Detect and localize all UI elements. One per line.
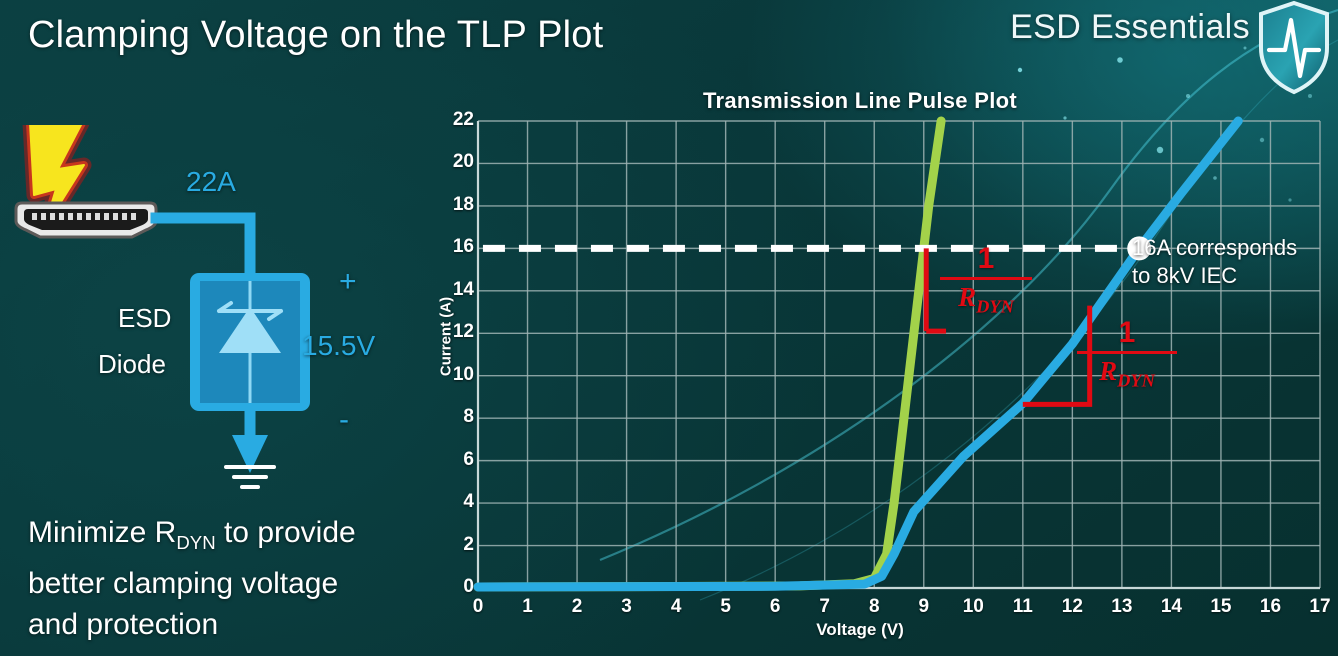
grid-lines [478,121,1320,588]
slope-2-numerator: 1 [1075,320,1179,346]
fraction-bar-icon [1077,351,1177,354]
polarity-plus-label: + [339,265,357,299]
circuit-wiring [156,218,250,275]
slope-1-denominator: RDYN [938,283,1034,320]
slide-canvas: Clamping Voltage on the TLP Plot ESD Ess… [0,0,1338,656]
current-value-label: 22A [186,166,236,198]
esd-diode-label-line1: ESD [118,303,171,334]
esd-diode-label-line2: Diode [98,349,166,380]
iec-callout-line1: 16A corresponds [1132,234,1297,262]
iec-callout: 16A corresponds to 8kV IEC [1132,234,1297,290]
polarity-minus-label: - [339,403,349,437]
fraction-bar-icon [940,277,1032,280]
summary-line3: and protection [28,608,218,641]
hdmi-connector-icon [16,203,156,237]
summary-note: Minimize RDYN to provide better clamping… [28,512,448,645]
brand-name: ESD Essentials [1010,8,1250,47]
voltage-value-label: 15.5V [302,330,375,362]
slope-1-numerator: 1 [938,246,1034,272]
slope-annotation-1: 1 RDYN [938,246,1034,320]
slope-annotation-2: 1 RDYN [1075,320,1179,394]
summary-line2: better clamping voltage [28,567,338,600]
plot-area [420,88,1338,656]
tlp-chart: Transmission Line Pulse Plot Current (A)… [420,88,1338,656]
tvs-diode-symbol-icon [190,273,310,411]
page-title: Clamping Voltage on the TLP Plot [28,14,603,57]
summary-line1-sub: DYN [176,532,215,553]
summary-line1-post: to provide [216,516,356,549]
esd-protection-diagram: ESD Diode 22A 15.5V + - [0,125,420,500]
slope-2-denominator: RDYN [1075,357,1179,394]
summary-line1-pre: Minimize R [28,516,176,549]
shield-pulse-icon [1255,0,1333,96]
iec-callout-line2: to 8kV IEC [1132,262,1297,290]
